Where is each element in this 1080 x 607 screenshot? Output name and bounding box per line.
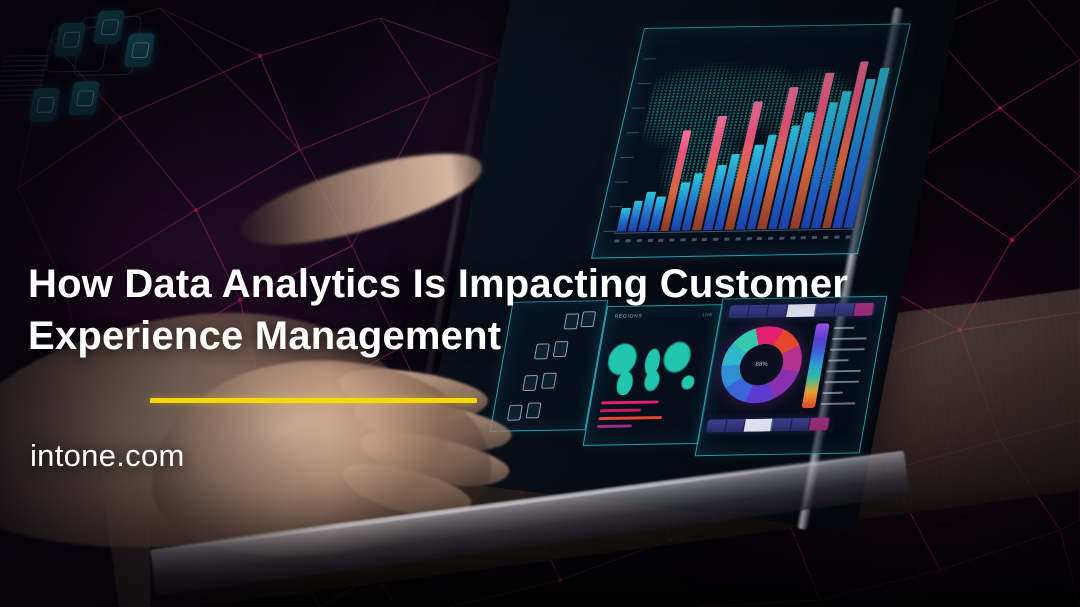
accent-divider — [150, 398, 477, 403]
axis-tick — [625, 240, 631, 243]
donut-toolbar-bottom[interactable] — [706, 418, 830, 433]
map-stat-bar — [600, 409, 641, 412]
axis-tick — [779, 237, 785, 240]
flow-node-card[interactable] — [28, 88, 60, 122]
axis-tick — [636, 239, 642, 242]
file-icon — [507, 405, 523, 421]
flow-node-card[interactable] — [123, 33, 155, 67]
flow-node-card[interactable] — [68, 81, 100, 115]
axis-tick — [724, 238, 730, 241]
map-stat-bar — [598, 416, 662, 420]
axis-tick — [823, 236, 829, 239]
toolbar-segment[interactable] — [725, 419, 746, 432]
bar-chart-bars — [617, 54, 893, 232]
axis-tick — [768, 237, 774, 240]
file-icon — [541, 373, 557, 389]
map-stat-bar — [597, 424, 632, 427]
legend-row — [826, 370, 861, 373]
axis-tick — [702, 238, 708, 241]
axis-tick — [845, 236, 851, 239]
axis-tick — [801, 237, 807, 240]
page-title: How Data Analytics Is Impacting Customer… — [28, 258, 908, 362]
toolbar-segment[interactable] — [809, 418, 830, 431]
axis-tick — [757, 237, 763, 240]
file-icon — [526, 402, 542, 418]
hologram-bar-chart-panel — [591, 23, 911, 258]
file-icon — [522, 375, 538, 391]
headline-line-2: Experience Management — [28, 314, 501, 358]
axis-tick — [680, 239, 686, 242]
axis-tick — [658, 239, 664, 242]
headline-line-1: How Data Analytics Is Impacting Customer — [28, 262, 848, 306]
legend-row — [820, 402, 855, 405]
axis-tick — [691, 238, 697, 241]
toolbar-segment[interactable] — [771, 418, 792, 431]
axis-tick — [834, 236, 840, 239]
axis-tick — [647, 239, 653, 242]
axis-tick — [812, 236, 818, 239]
legend-row — [824, 381, 859, 384]
bar-chart-x-axis — [613, 230, 852, 248]
toolbar-segment[interactable] — [790, 418, 811, 431]
hologram-flow-diagram — [0, 0, 164, 140]
map-stat-bar — [601, 400, 658, 403]
axis-tick — [735, 238, 741, 241]
axis-tick — [790, 237, 796, 240]
banner-image: REGIONS LIVE 88% How Data Analytics Is I… — [0, 0, 1080, 607]
axis-tick — [669, 239, 675, 242]
legend-row — [822, 392, 843, 395]
axis-tick — [713, 238, 719, 241]
toolbar-segment[interactable] — [744, 419, 774, 432]
toolbar-segment[interactable] — [706, 419, 727, 432]
axis-tick — [614, 240, 620, 243]
site-url: intone.com — [30, 438, 185, 474]
axis-tick — [746, 237, 752, 240]
